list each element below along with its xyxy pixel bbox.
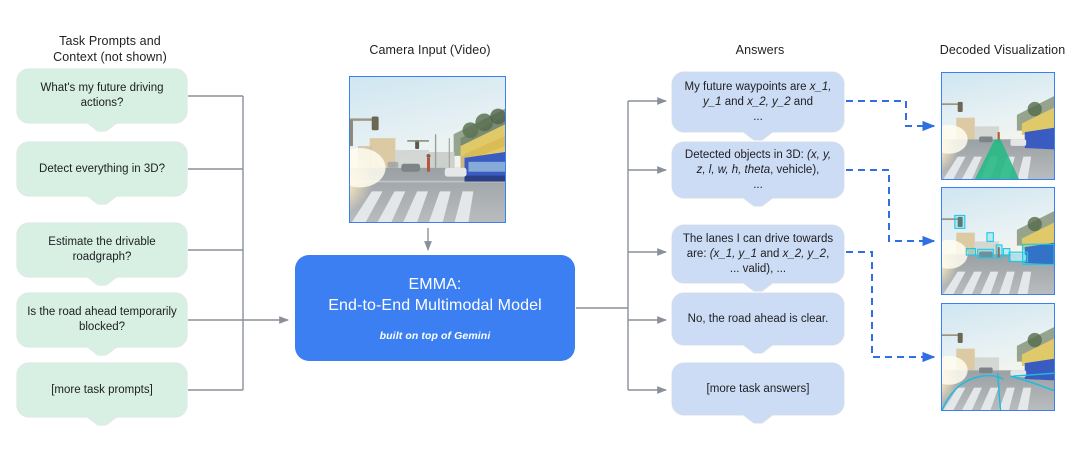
emma-subtitle: built on top of Gemini [380,330,491,342]
camera-input-frame [349,76,506,223]
answer-text: [more task answers] [707,382,810,397]
prompt-text: Detect everything in 3D? [39,162,165,177]
prompt-text: Estimate the drivable roadgraph? [26,235,178,265]
answer-text: Detected objects in 3D: (x, y, z, l, w, … [681,148,835,193]
prompt-text: [more task prompts] [51,383,153,398]
emma-title-line2: End-to-End Multimodal Model [328,295,541,316]
answer-text: My future waypoints are x_1, y_1 and x_2… [681,80,835,125]
camera-scene [350,77,505,222]
diagram-canvas: Task Prompts and Context (not shown) Cam… [0,0,1080,456]
answer-bubble-lanes[interactable]: The lanes I can drive towards are: (x_1,… [672,225,844,283]
prompt-bubble-road-blocked[interactable]: Is the road ahead temporarily blocked? [17,293,187,347]
answer-bubble-detected-objects[interactable]: Detected objects in 3D: (x, y, z, l, w, … [672,142,844,198]
emma-title-line1: EMMA: [328,274,541,295]
prompt-bubble-more-prompts[interactable]: [more task prompts] [17,363,187,417]
decoded-viz-objects3d [941,187,1055,295]
decoded-viz-waypoints [941,72,1055,180]
emma-model-box[interactable]: EMMA: End-to-End Multimodal Model built … [295,255,575,361]
decoded-viz-roadgraph [941,303,1055,411]
objects3d-overlay-scene [942,188,1054,294]
prompt-bubble-detect-3d[interactable]: Detect everything in 3D? [17,142,187,196]
answer-bubble-more-answers[interactable]: [more task answers] [672,363,844,415]
roadgraph-overlay-scene [942,304,1054,410]
prompt-bubble-roadgraph[interactable]: Estimate the drivable roadgraph? [17,223,187,277]
answer-text: The lanes I can drive towards are: (x_1,… [681,232,835,277]
answer-bubble-road-clear[interactable]: No, the road ahead is clear. [672,293,844,345]
prompt-bubble-driving-actions[interactable]: What's my future driving actions? [17,69,187,123]
emma-title: EMMA: End-to-End Multimodal Model [328,274,541,316]
prompt-text: Is the road ahead temporarily blocked? [26,305,178,335]
waypoints-overlay-scene [942,73,1054,179]
answer-bubble-waypoints[interactable]: My future waypoints are x_1, y_1 and x_2… [672,72,844,132]
answer-text: No, the road ahead is clear. [688,312,829,327]
prompt-text: What's my future driving actions? [26,81,178,111]
